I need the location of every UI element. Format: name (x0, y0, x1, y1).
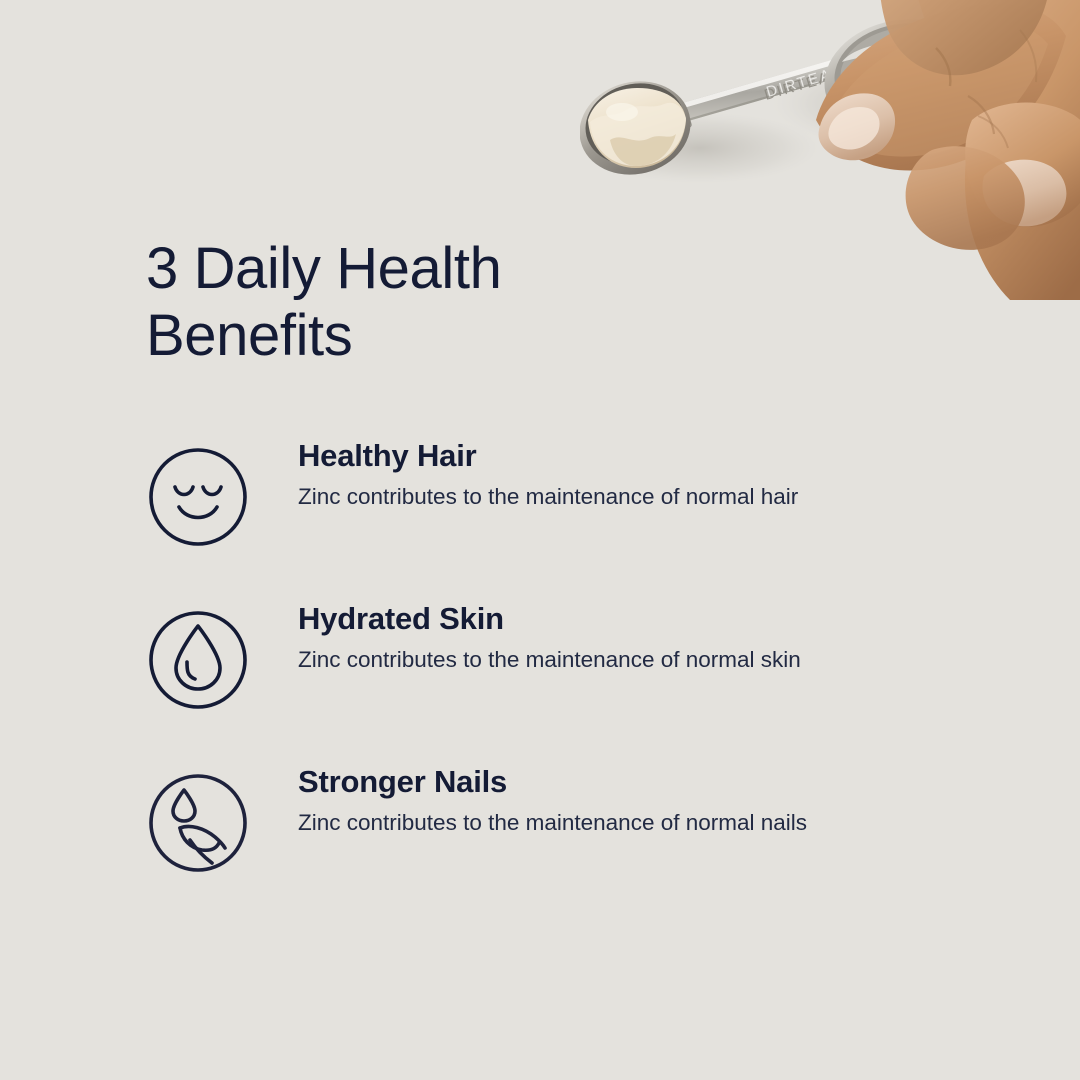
benefit-item-healthy-hair: Healthy Hair Zinc contributes to the mai… (146, 440, 956, 560)
benefit-text-stronger-nails: Stronger Nails Zinc contributes to the m… (250, 766, 807, 839)
spoon-handle: DIRTEA DIRTEA 2g 4g (658, 46, 886, 131)
benefit-description: Zinc contributes to the maintenance of n… (298, 481, 798, 513)
benefit-text-hydrated-skin: Hydrated Skin Zinc contributes to the ma… (250, 603, 801, 676)
water-droplet-icon (146, 608, 250, 712)
benefit-text-healthy-hair: Healthy Hair Zinc contributes to the mai… (250, 440, 798, 513)
benefit-item-hydrated-skin: Hydrated Skin Zinc contributes to the ma… (146, 603, 956, 723)
benefit-item-stronger-nails: Stronger Nails Zinc contributes to the m… (146, 766, 956, 886)
hand (816, 0, 1080, 300)
benefit-title: Healthy Hair (298, 440, 798, 473)
benefit-title: Stronger Nails (298, 766, 807, 799)
spoon-brand-engraving: DIRTEA (762, 69, 832, 104)
svg-text:DIRTEA: DIRTEA (764, 66, 834, 101)
benefit-title: Hydrated Skin (298, 603, 801, 636)
nail-droplet-icon (146, 771, 250, 875)
spoon-measure-small: 2g (675, 112, 694, 131)
spoon-measure-large: 4g (845, 53, 863, 70)
page-title: 3 Daily Health Benefits (146, 235, 666, 370)
benefits-list: Healthy Hair Zinc contributes to the mai… (146, 440, 956, 886)
smiling-face-icon (146, 445, 250, 549)
benefit-description: Zinc contributes to the maintenance of n… (298, 644, 801, 676)
benefit-description: Zinc contributes to the maintenance of n… (298, 807, 807, 839)
spoon-bowl-large (815, 7, 989, 148)
spoon-bowl-with-powder (580, 70, 700, 186)
benefits-graphic: DIRTEA DIRTEA 2g 4g (0, 0, 1080, 1080)
